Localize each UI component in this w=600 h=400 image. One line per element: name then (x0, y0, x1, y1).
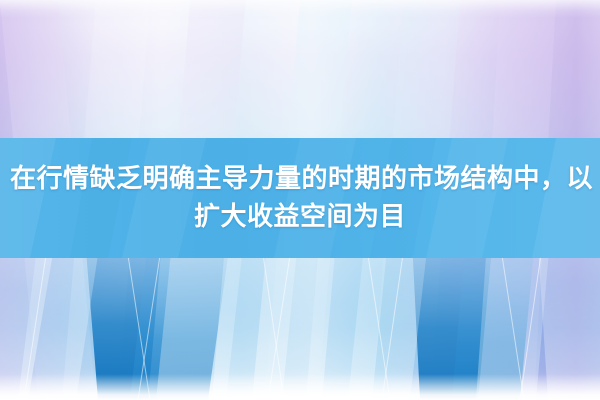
headline-band: 在行情缺乏明确主导力量的时期的市场结构中，以 扩大收益空间为目 (0, 138, 600, 258)
promo-banner: 在行情缺乏明确主导力量的时期的市场结构中，以 扩大收益空间为目 (0, 0, 600, 400)
headline-line-2: 扩大收益空间为目 (10, 198, 590, 236)
headline-text: 在行情缺乏明确主导力量的时期的市场结构中，以 扩大收益空间为目 (10, 160, 590, 236)
headline-line-1: 在行情缺乏明确主导力量的时期的市场结构中，以 (10, 160, 590, 198)
